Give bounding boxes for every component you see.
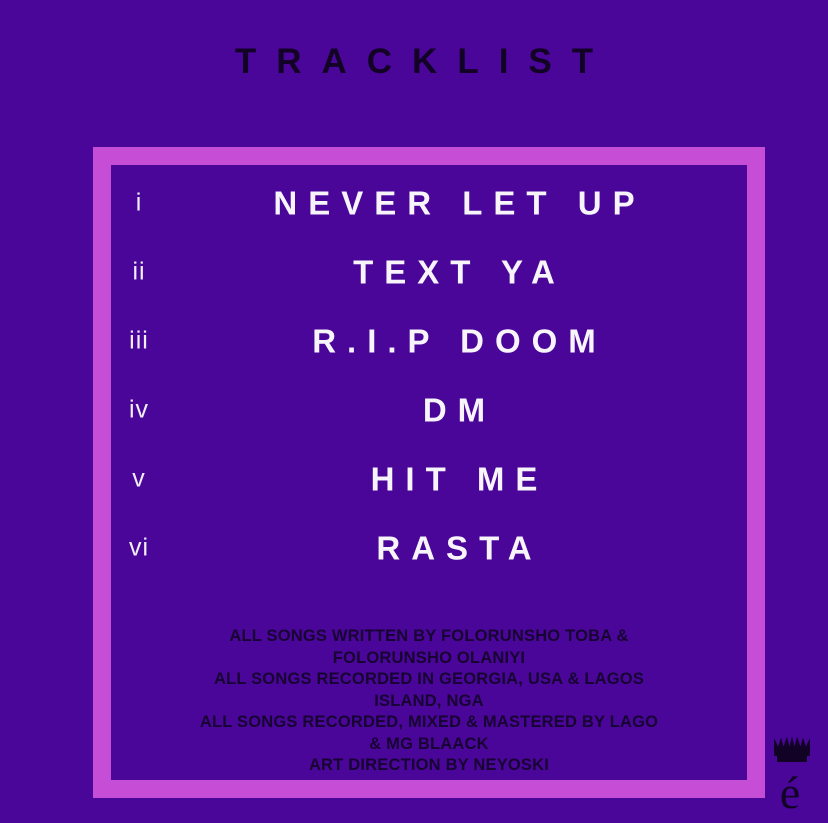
track-numeral: iv — [105, 397, 173, 422]
track-row[interactable]: iNEVER LET UP — [93, 168, 765, 237]
track-row[interactable]: viRASTA — [93, 513, 765, 582]
track-numeral: vi — [105, 535, 173, 560]
brand-logo: é — [764, 728, 824, 820]
credits-block: ALL SONGS WRITTEN BY FOLORUNSHO TOBA &FO… — [111, 626, 747, 777]
track-title: DM — [173, 393, 735, 426]
track-row[interactable]: iiTEXT YA — [93, 237, 765, 306]
track-title: TEXT YA — [173, 255, 735, 288]
track-title: RASTA — [173, 531, 735, 564]
track-title: R.I.P DOOM — [173, 324, 735, 357]
track-title: HIT ME — [173, 462, 735, 495]
credit-line: FOLORUNSHO OLANIYI — [111, 648, 747, 670]
credit-line: ALL SONGS RECORDED, MIXED & MASTERED BY … — [111, 712, 747, 734]
track-numeral: ii — [105, 259, 173, 284]
brand-letter: é — [764, 768, 816, 818]
credit-line: ALL SONGS WRITTEN BY FOLORUNSHO TOBA & — [111, 626, 747, 648]
album-back-cover: TRACKLIST iNEVER LET UPiiTEXT YAiiiR.I.P… — [0, 0, 828, 823]
track-title: NEVER LET UP — [173, 186, 735, 219]
track-row[interactable]: ivDM — [93, 375, 765, 444]
credit-line: ART DIRECTION BY NEYOSKI — [111, 755, 747, 777]
credit-line: ALL SONGS RECORDED IN GEORGIA, USA & LAG… — [111, 669, 747, 691]
credit-line: & MG BLAACK — [111, 734, 747, 756]
track-row[interactable]: vHIT ME — [93, 444, 765, 513]
track-numeral: iii — [105, 328, 173, 353]
crown-icon — [772, 732, 812, 766]
track-list: iNEVER LET UPiiTEXT YAiiiR.I.P DOOMivDMv… — [93, 168, 765, 582]
track-row[interactable]: iiiR.I.P DOOM — [93, 306, 765, 375]
page-title: TRACKLIST — [0, 44, 828, 79]
credit-line: ISLAND, NGA — [111, 691, 747, 713]
track-numeral: i — [105, 190, 173, 215]
track-numeral: v — [105, 466, 173, 491]
